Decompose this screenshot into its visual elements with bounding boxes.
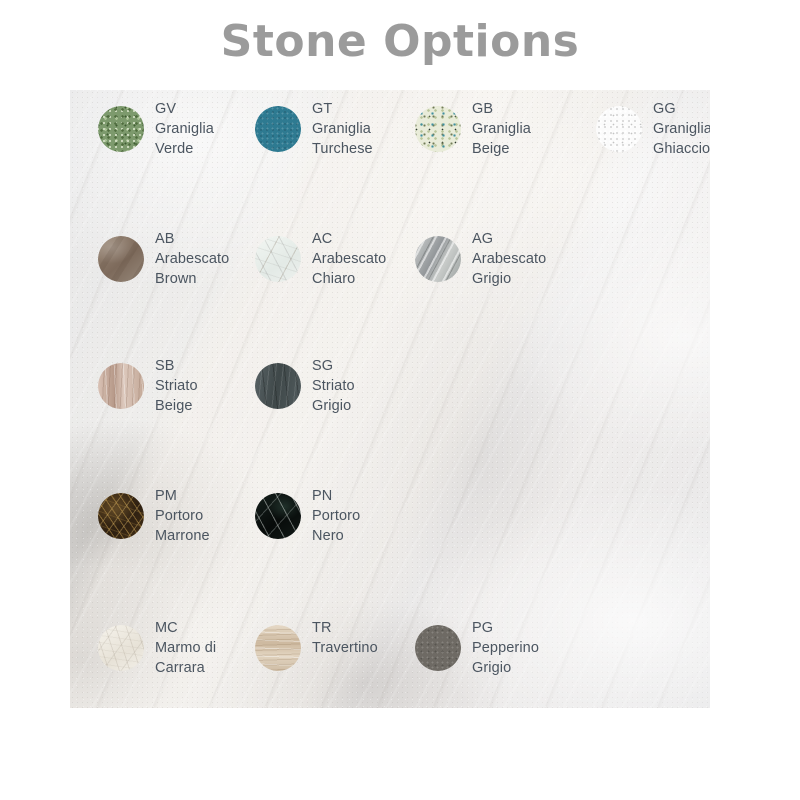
stone-swatch-gt[interactable]: GTGraniglia Turchese xyxy=(255,98,407,159)
swatch-name: Graniglia Verde xyxy=(155,119,214,159)
swatch-circle-tr[interactable] xyxy=(255,625,301,671)
swatch-texture-icon xyxy=(255,236,301,282)
stone-swatch-sb[interactable]: SBStriato Beige xyxy=(98,355,250,416)
stone-swatch-gg[interactable]: GGGraniglia Ghiaccio xyxy=(596,98,710,159)
stone-options-panel: GVGraniglia VerdeGTGraniglia TurcheseGBG… xyxy=(70,90,710,708)
swatch-circle-gg[interactable] xyxy=(596,106,642,152)
swatch-code: GG xyxy=(653,99,710,119)
swatch-texture-icon xyxy=(255,493,301,539)
swatch-texture-icon xyxy=(98,363,144,409)
swatch-code: AG xyxy=(472,229,546,249)
swatch-code: GB xyxy=(472,99,531,119)
swatch-code: PG xyxy=(472,618,539,638)
swatch-circle-pm[interactable] xyxy=(98,493,144,539)
swatch-circle-ab[interactable] xyxy=(98,236,144,282)
swatch-labels: GTGraniglia Turchese xyxy=(312,98,373,159)
swatch-code: GT xyxy=(312,99,373,119)
swatch-texture-icon xyxy=(255,363,301,409)
swatch-code: AC xyxy=(312,229,386,249)
swatch-name: Marmo di Carrara xyxy=(155,638,216,678)
swatch-texture-icon xyxy=(415,106,461,152)
swatch-code: PM xyxy=(155,486,210,506)
stone-swatch-tr[interactable]: TRTravertino xyxy=(255,617,407,671)
swatch-name: Graniglia Ghiaccio xyxy=(653,119,710,159)
swatch-circle-pg[interactable] xyxy=(415,625,461,671)
swatch-labels: PNPortoro Nero xyxy=(312,485,360,546)
stone-swatch-sg[interactable]: SGStriato Grigio xyxy=(255,355,407,416)
stone-swatch-pg[interactable]: PGPepperino Grigio xyxy=(415,617,567,678)
swatch-labels: ABArabescato Brown xyxy=(155,228,229,289)
swatch-name: Portoro Nero xyxy=(312,506,360,546)
swatch-code: TR xyxy=(312,618,378,638)
swatch-texture-icon xyxy=(98,236,144,282)
swatch-circle-sb[interactable] xyxy=(98,363,144,409)
swatch-name: Arabescato Brown xyxy=(155,249,229,289)
swatch-name: Graniglia Beige xyxy=(472,119,531,159)
swatch-code: MC xyxy=(155,618,216,638)
swatch-texture-icon xyxy=(596,106,642,152)
swatch-texture-icon xyxy=(98,493,144,539)
stone-swatch-ab[interactable]: ABArabescato Brown xyxy=(98,228,250,289)
swatch-code: GV xyxy=(155,99,214,119)
swatch-name: Graniglia Turchese xyxy=(312,119,373,159)
swatch-labels: ACArabescato Chiaro xyxy=(312,228,386,289)
swatch-circle-ac[interactable] xyxy=(255,236,301,282)
stone-swatch-gv[interactable]: GVGraniglia Verde xyxy=(98,98,250,159)
swatch-labels: MCMarmo di Carrara xyxy=(155,617,216,678)
swatch-name: Arabescato Grigio xyxy=(472,249,546,289)
swatch-name: Portoro Marrone xyxy=(155,506,210,546)
swatch-code: AB xyxy=(155,229,229,249)
swatch-labels: PMPortoro Marrone xyxy=(155,485,210,546)
swatch-circle-ag[interactable] xyxy=(415,236,461,282)
swatch-labels: PGPepperino Grigio xyxy=(472,617,539,678)
swatch-name: Pepperino Grigio xyxy=(472,638,539,678)
swatch-texture-icon xyxy=(255,106,301,152)
page-title: Stone Options xyxy=(0,14,800,70)
swatch-labels: GVGraniglia Verde xyxy=(155,98,214,159)
stone-swatch-grid: GVGraniglia VerdeGTGraniglia TurcheseGBG… xyxy=(70,90,710,708)
swatch-circle-gv[interactable] xyxy=(98,106,144,152)
swatch-code: SG xyxy=(312,356,355,376)
swatch-circle-sg[interactable] xyxy=(255,363,301,409)
swatch-texture-icon xyxy=(98,106,144,152)
swatch-code: SB xyxy=(155,356,198,376)
swatch-texture-icon xyxy=(98,625,144,671)
swatch-name: Striato Grigio xyxy=(312,376,355,416)
swatch-circle-pn[interactable] xyxy=(255,493,301,539)
swatch-texture-icon xyxy=(415,625,461,671)
swatch-circle-gt[interactable] xyxy=(255,106,301,152)
swatch-texture-icon xyxy=(255,625,301,671)
swatch-texture-icon xyxy=(415,236,461,282)
stone-swatch-pn[interactable]: PNPortoro Nero xyxy=(255,485,407,546)
swatch-circle-gb[interactable] xyxy=(415,106,461,152)
swatch-labels: TRTravertino xyxy=(312,617,378,658)
swatch-code: PN xyxy=(312,486,360,506)
swatch-name: Arabescato Chiaro xyxy=(312,249,386,289)
swatch-labels: AGArabescato Grigio xyxy=(472,228,546,289)
swatch-labels: SGStriato Grigio xyxy=(312,355,355,416)
swatch-labels: GGGraniglia Ghiaccio xyxy=(653,98,710,159)
stone-swatch-mc[interactable]: MCMarmo di Carrara xyxy=(98,617,250,678)
stone-swatch-ac[interactable]: ACArabescato Chiaro xyxy=(255,228,407,289)
swatch-name: Travertino xyxy=(312,638,378,658)
stone-swatch-pm[interactable]: PMPortoro Marrone xyxy=(98,485,250,546)
swatch-labels: SBStriato Beige xyxy=(155,355,198,416)
swatch-labels: GBGraniglia Beige xyxy=(472,98,531,159)
swatch-name: Striato Beige xyxy=(155,376,198,416)
stone-swatch-gb[interactable]: GBGraniglia Beige xyxy=(415,98,567,159)
swatch-circle-mc[interactable] xyxy=(98,625,144,671)
stone-swatch-ag[interactable]: AGArabescato Grigio xyxy=(415,228,567,289)
